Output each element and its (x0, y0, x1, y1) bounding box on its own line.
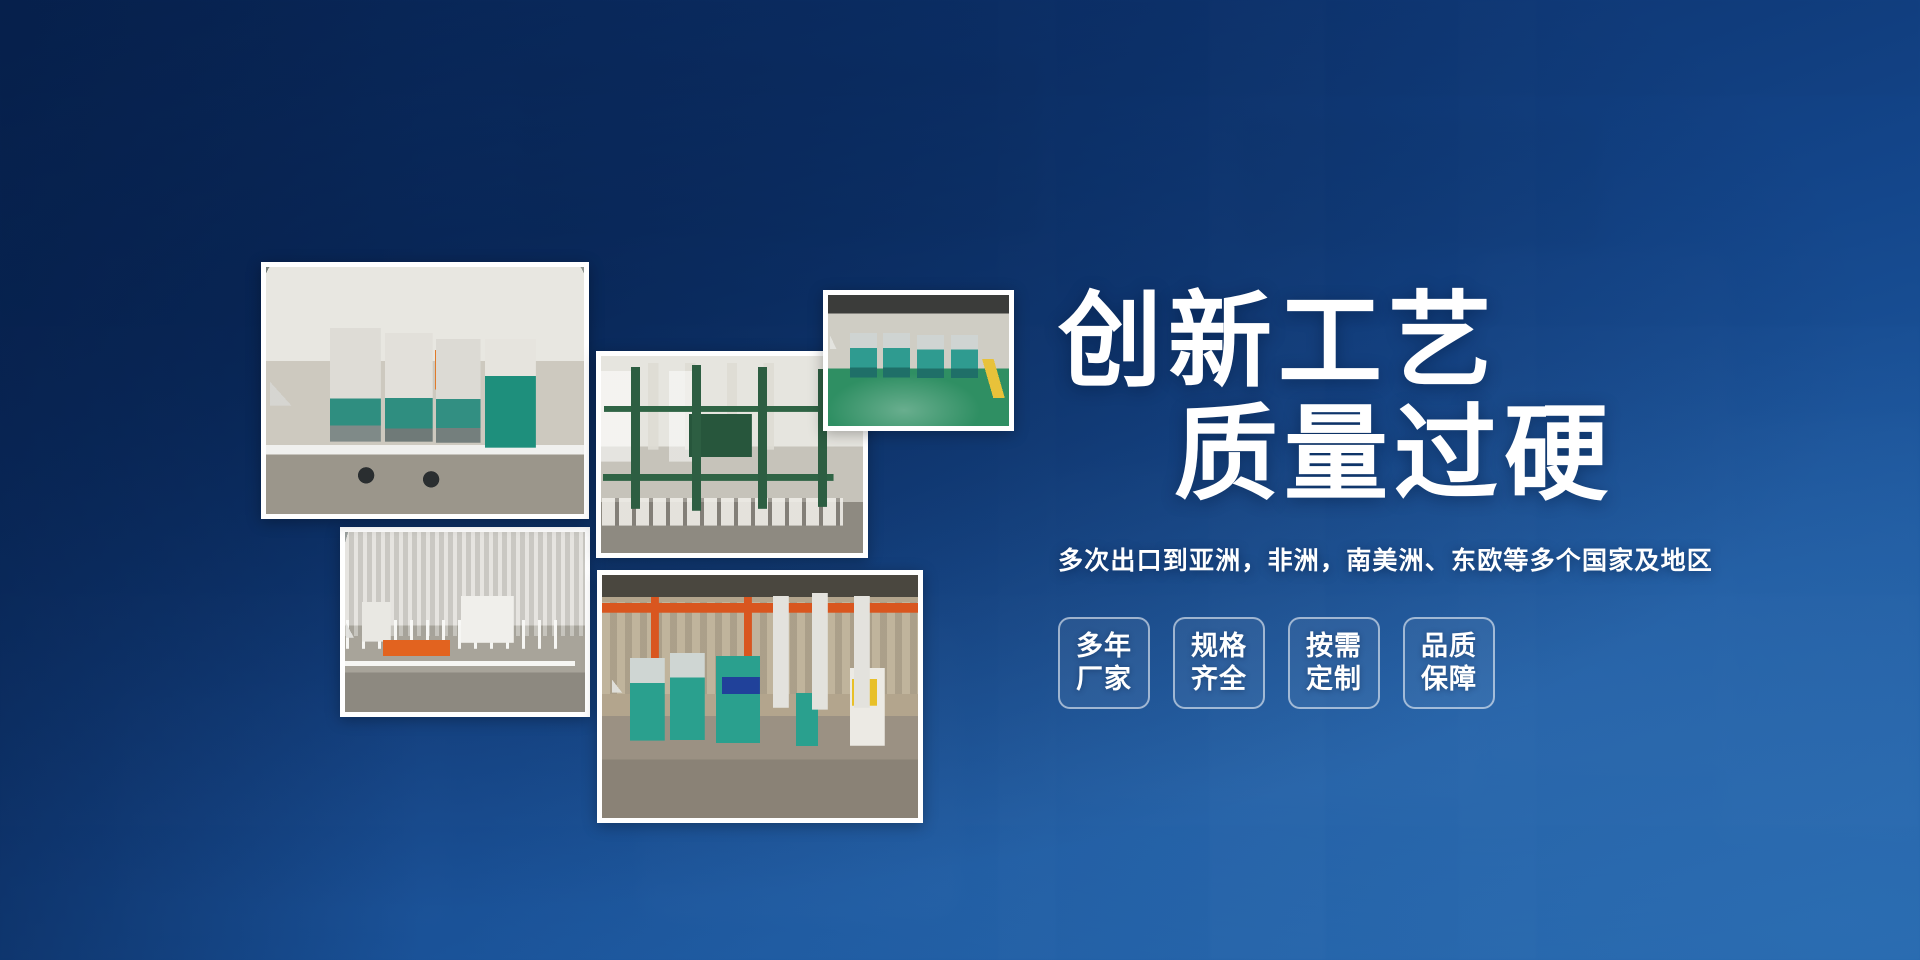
photo-teal-machines (823, 290, 1014, 431)
photo-image (602, 575, 918, 818)
badge-line-2: 定制 (1306, 663, 1362, 696)
photo-teal-orange-beams (597, 570, 923, 823)
photo-image (828, 295, 1009, 426)
badge-line-1: 按需 (1306, 630, 1362, 663)
badge-line-2: 齐全 (1191, 663, 1247, 696)
badge-many-years-manufacturer: 多年 厂家 (1058, 617, 1150, 709)
photo-image (345, 532, 585, 712)
badge-full-specifications: 规格 齐全 (1173, 617, 1265, 709)
banner-text-column: 创新工艺 质量过硬 多次出口到亚洲，非洲，南美洲、东欧等多个国家及地区 多年 厂… (1058, 286, 1858, 709)
headline-line-1: 创新工艺 (1058, 286, 1858, 399)
badge-quality-assurance: 品质 保障 (1403, 617, 1495, 709)
badge-line-1: 品质 (1421, 630, 1477, 663)
photo-mill-line-grey (261, 262, 589, 519)
feature-badge-group: 多年 厂家 规格 齐全 按需 定制 品质 保障 (1058, 617, 1858, 709)
headline-line-2: 质量过硬 (1174, 399, 1858, 512)
promo-banner: 创新工艺 质量过硬 多次出口到亚洲，非洲，南美洲、东欧等多个国家及地区 多年 厂… (0, 0, 1920, 960)
badge-line-2: 保障 (1421, 663, 1477, 696)
photo-mill-line-white (340, 527, 590, 717)
badge-line-2: 厂家 (1076, 663, 1132, 696)
badge-line-1: 多年 (1076, 630, 1132, 663)
subtitle: 多次出口到亚洲，非洲，南美洲、东欧等多个国家及地区 (1058, 541, 1858, 577)
badge-line-1: 规格 (1191, 630, 1247, 663)
headline: 创新工艺 质量过硬 (1058, 286, 1858, 513)
photo-image (266, 267, 584, 514)
badge-custom-on-demand: 按需 定制 (1288, 617, 1380, 709)
